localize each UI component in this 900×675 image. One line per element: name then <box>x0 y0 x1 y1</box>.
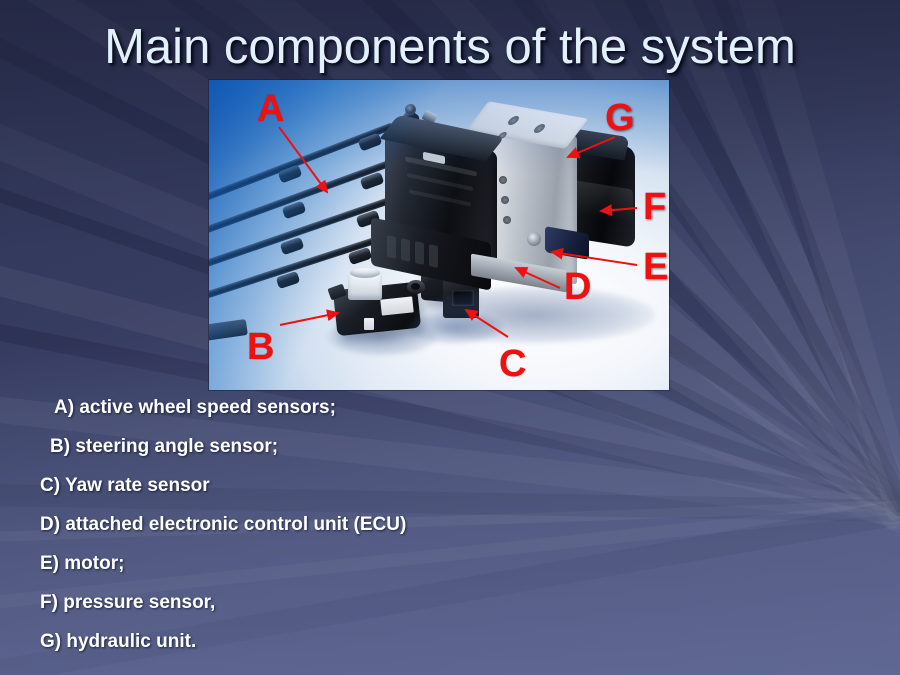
figure-label-f-outer: F <box>643 188 666 226</box>
figure-label-a: A <box>257 90 284 128</box>
components-photo: A B C D E <box>209 80 669 390</box>
figure-label-g-outer: G <box>605 99 635 137</box>
presentation-slide: Main components of the system <box>0 0 900 675</box>
legend-item-b: B) steering angle sensor; <box>40 437 660 456</box>
legend-item-c: C) Yaw rate sensor <box>40 476 660 495</box>
legend-item-g: G) hydraulic unit. <box>40 632 660 651</box>
legend-item-e: E) motor; <box>40 554 660 573</box>
slide-title: Main components of the system <box>0 22 900 73</box>
figure-label-d: D <box>564 268 591 306</box>
figure-label-b: B <box>247 328 274 366</box>
figure-label-e-outer: E <box>643 248 668 286</box>
legend-item-d: D) attached electronic control unit (ECU… <box>40 515 660 534</box>
figure-label-c: C <box>499 345 526 383</box>
component-legend-list: A) active wheel speed sensors; B) steeri… <box>40 398 660 671</box>
legend-item-f: F) pressure sensor, <box>40 593 660 612</box>
legend-item-a: A) active wheel speed sensors; <box>40 398 660 417</box>
